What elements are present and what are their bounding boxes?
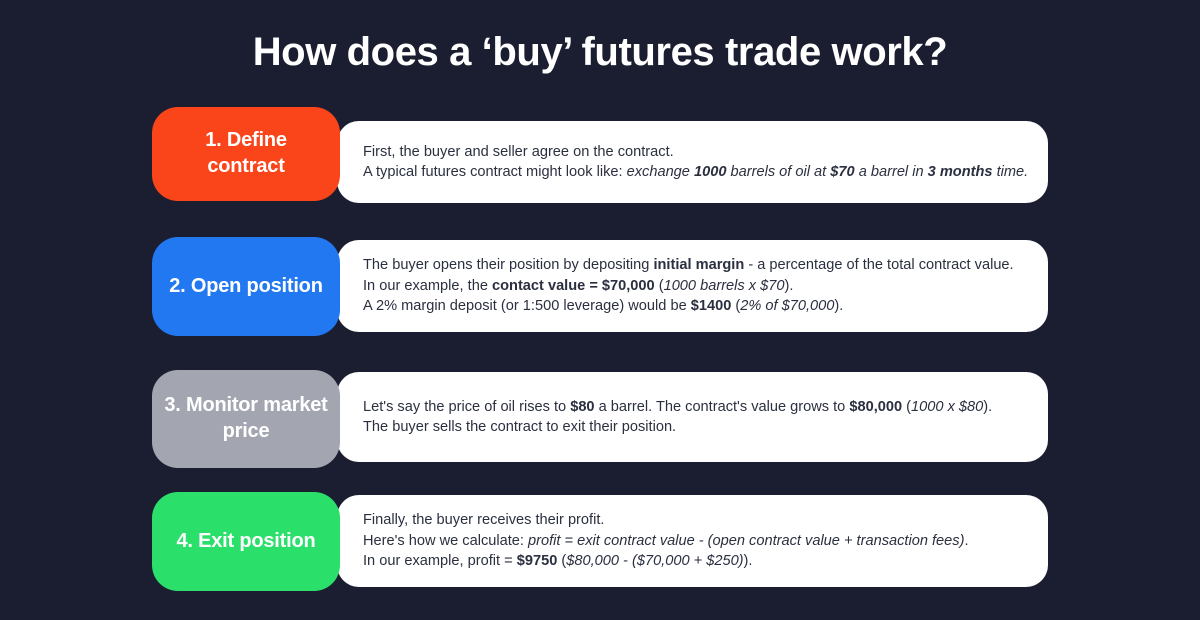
text-segment: $80,000 - ($70,000 + $250) [566,553,743,569]
step-description-panel: First, the buyer and seller agree on the… [337,121,1048,203]
text-segment: a barrel. The contract's value grows to [595,399,850,415]
text-segment: time. [993,164,1029,180]
text-segment: $70 [830,164,854,180]
text-segment: ). [834,298,843,314]
text-segment: Here's how we calculate: [363,533,528,549]
text-segment: ). [983,399,992,415]
step-label-text: 4. Exit position [176,529,315,555]
text-segment: Let's say the price of oil rises to [363,399,570,415]
text-segment: A typical futures contract might look li… [363,164,627,180]
step-description-line: Finally, the buyer receives their profit… [363,510,1026,531]
text-segment: In our example, profit = [363,553,517,569]
step-description-line: First, the buyer and seller agree on the… [363,142,1026,163]
text-segment: The buyer opens their position by deposi… [363,257,653,273]
text-segment: 3 months [928,164,993,180]
step-description-panel: Let's say the price of oil rises to $80 … [337,372,1048,462]
text-segment: $9750 [517,553,558,569]
text-segment: In our example, the [363,278,492,294]
text-segment: barrels of oil at [726,164,830,180]
step-description-line: In our example, profit = $9750 ($80,000 … [363,551,1026,572]
text-segment: $1400 [691,298,732,314]
text-segment: - a percentage of the total contract val… [744,257,1013,273]
text-segment: 1000 barrels x $70 [664,278,785,294]
step-label-4-exit-position: 4. Exit position [152,492,340,591]
step-description-line: The buyer opens their position by deposi… [363,255,1026,276]
step-description-line: In our example, the contact value = $70,… [363,276,1026,297]
text-segment: initial margin [653,257,744,273]
text-segment: 1000 x $80 [911,399,983,415]
step-description-line: A typical futures contract might look li… [363,162,1026,183]
step-label-text: 2. Open position [169,274,322,300]
text-segment: ). [784,278,793,294]
text-segment: ( [731,298,740,314]
step-description-line: The buyer sells the contract to exit the… [363,417,1026,438]
step-description-line: Here's how we calculate: profit = exit c… [363,531,1026,552]
step-label-text: 1. Define contract [164,128,328,179]
text-segment: . [964,533,968,549]
text-segment: 2% of $70,000 [740,298,834,314]
step-description-line: A 2% margin deposit (or 1:500 leverage) … [363,296,1026,317]
futures-trade-infographic: How does a ‘buy’ futures trade work? Fir… [0,0,1200,620]
text-segment: a barrel in [855,164,928,180]
step-label-2-open-position: 2. Open position [152,237,340,336]
text-segment: exchange [627,164,694,180]
step-description-panel: Finally, the buyer receives their profit… [337,495,1048,587]
step-label-3-monitor-market-price: 3. Monitor market price [152,370,340,468]
step-description-line: Let's say the price of oil rises to $80 … [363,397,1026,418]
step-label-1-define-contract: 1. Define contract [152,107,340,201]
text-segment: First, the buyer and seller agree on the… [363,144,674,160]
step-description-panel: The buyer opens their position by deposi… [337,240,1048,332]
text-segment: profit = exit contract value - (open con… [528,533,964,549]
text-segment: ( [655,278,664,294]
text-segment: The buyer sells the contract to exit the… [363,419,676,435]
text-segment: ). [744,553,753,569]
text-segment: 1000 [694,164,726,180]
text-segment: Finally, the buyer receives their profit… [363,512,604,528]
text-segment: ( [557,553,566,569]
text-segment: contact value = $70,000 [492,278,655,294]
text-segment: ( [902,399,911,415]
step-label-text: 3. Monitor market price [164,393,328,444]
text-segment: $80 [570,399,594,415]
text-segment: A 2% margin deposit (or 1:500 leverage) … [363,298,691,314]
text-segment: $80,000 [849,399,902,415]
page-title: How does a ‘buy’ futures trade work? [0,28,1200,76]
